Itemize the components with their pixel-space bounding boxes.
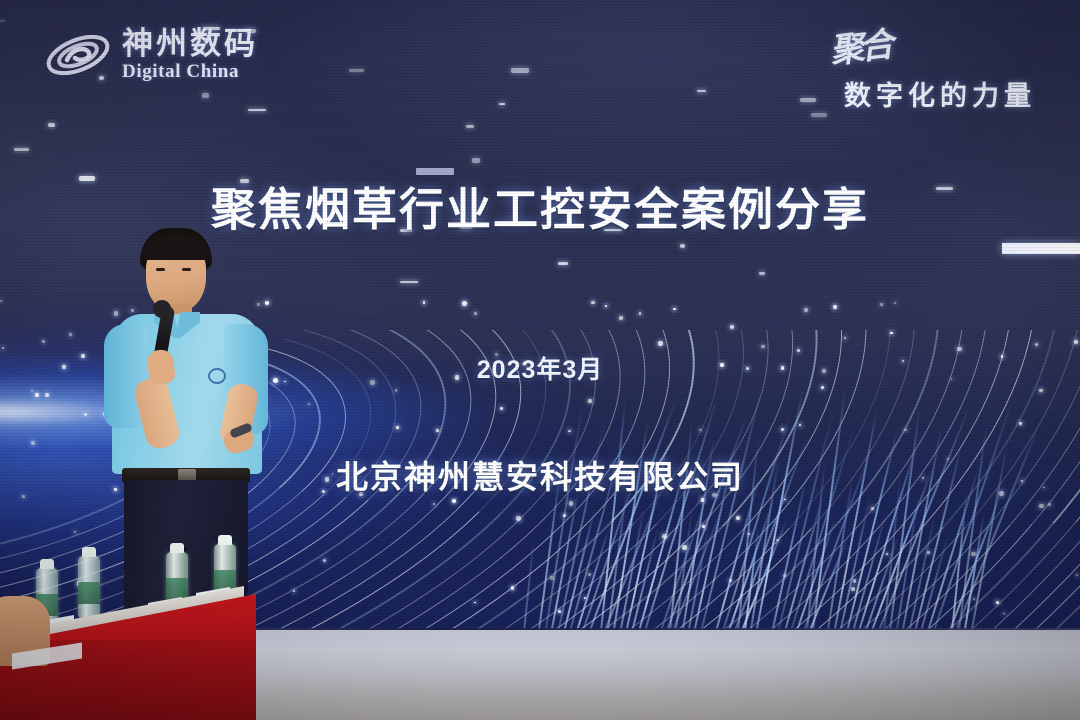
light-particle bbox=[48, 123, 55, 127]
light-particle bbox=[1019, 422, 1022, 425]
light-particle bbox=[349, 69, 364, 73]
light-particle bbox=[871, 507, 874, 510]
light-particle bbox=[619, 316, 623, 320]
logo-text-en: Digital China bbox=[122, 61, 258, 83]
light-particle bbox=[639, 312, 641, 314]
conference-photo: 聚焦烟草行业工控安全案例分享 2023年3月 北京神州慧安科技有限公司 神州数码… bbox=[0, 0, 1080, 720]
spiral-swirl-icon bbox=[42, 26, 114, 84]
light-particle bbox=[569, 501, 574, 506]
digital-china-logo: 神州数码 Digital China bbox=[42, 22, 288, 88]
light-particle bbox=[0, 20, 5, 22]
light-particle bbox=[500, 407, 503, 410]
light-particle bbox=[516, 516, 520, 520]
light-particle bbox=[558, 610, 561, 613]
light-particle bbox=[894, 302, 896, 304]
light-particle bbox=[759, 272, 765, 275]
light-particle bbox=[558, 262, 568, 265]
light-particle bbox=[436, 429, 439, 432]
light-particle bbox=[761, 345, 764, 348]
light-particle bbox=[697, 90, 707, 93]
light-particle bbox=[1048, 503, 1051, 506]
light-particle bbox=[45, 393, 49, 397]
light-particle bbox=[702, 525, 705, 528]
light-particle bbox=[31, 441, 35, 445]
event-logo-subtitle: 数字化的力量 bbox=[844, 74, 1036, 113]
bottle-cap bbox=[170, 543, 184, 553]
light-particle bbox=[680, 244, 686, 248]
deco-bar-top bbox=[416, 168, 454, 175]
light-particle bbox=[662, 534, 667, 539]
light-particle bbox=[466, 125, 475, 128]
light-particle bbox=[799, 424, 801, 426]
bottle-label bbox=[78, 582, 100, 604]
presenter-eye-left bbox=[156, 268, 165, 271]
light-particle bbox=[202, 93, 209, 97]
light-particle bbox=[973, 598, 975, 600]
light-particle bbox=[776, 539, 778, 541]
event-logo: 聚合 数字化的力量 bbox=[802, 16, 1062, 112]
light-particle bbox=[423, 301, 425, 303]
light-particle bbox=[395, 389, 398, 392]
light-particle bbox=[701, 498, 705, 502]
light-particle bbox=[79, 176, 95, 181]
logo-text-cn: 神州数码 bbox=[122, 27, 258, 61]
light-particle bbox=[591, 301, 594, 304]
light-particle bbox=[1039, 389, 1042, 392]
light-particle bbox=[400, 281, 417, 283]
polo-chest-logo bbox=[208, 368, 226, 384]
digital-china-wordmark: 神州数码 Digital China bbox=[122, 27, 258, 83]
light-particle bbox=[462, 301, 466, 305]
light-particle bbox=[14, 148, 29, 151]
light-particle bbox=[0, 300, 2, 302]
bottle-cap bbox=[40, 559, 54, 569]
bottle-cap bbox=[218, 535, 232, 545]
light-particle bbox=[1074, 340, 1078, 344]
light-particle bbox=[658, 341, 663, 346]
light-particle bbox=[588, 573, 591, 576]
light-particle bbox=[472, 158, 480, 163]
light-particle bbox=[605, 305, 607, 307]
light-particle bbox=[927, 551, 930, 554]
water-bottle bbox=[78, 556, 100, 620]
light-particle bbox=[511, 68, 529, 73]
light-particle bbox=[588, 399, 592, 403]
light-particle bbox=[1076, 574, 1078, 576]
light-particle bbox=[499, 103, 505, 106]
light-particle bbox=[996, 601, 998, 603]
presenter-eye-right bbox=[182, 268, 191, 271]
light-particle bbox=[1039, 504, 1043, 508]
light-particle bbox=[42, 340, 45, 343]
light-particle bbox=[452, 499, 456, 503]
light-particle bbox=[886, 553, 888, 555]
bottle-cap bbox=[82, 547, 96, 557]
light-particle bbox=[821, 386, 824, 389]
light-particle bbox=[736, 516, 740, 520]
light-particle bbox=[248, 109, 265, 112]
light-particle bbox=[293, 590, 295, 592]
light-particle bbox=[474, 312, 476, 314]
light-particle bbox=[84, 413, 87, 416]
light-particle bbox=[682, 545, 687, 550]
deco-bar-right bbox=[1002, 243, 1080, 254]
light-particle bbox=[584, 597, 586, 599]
light-particle bbox=[811, 113, 827, 117]
